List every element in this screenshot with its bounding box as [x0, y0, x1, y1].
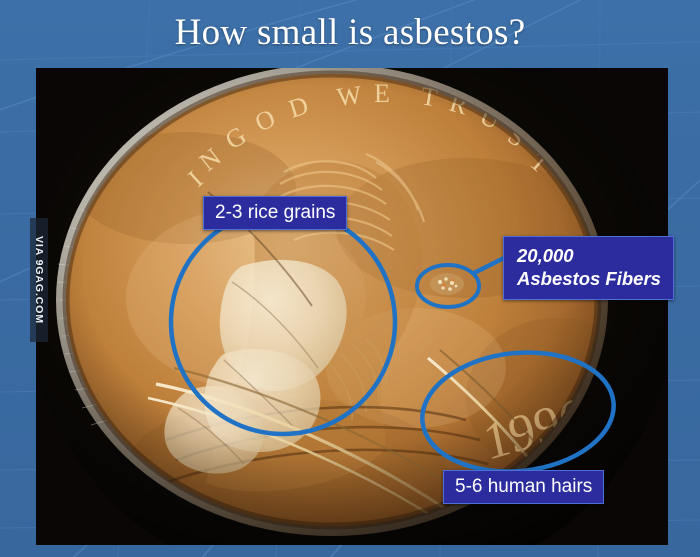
watermark: VIA 9GAG.COM — [30, 218, 48, 342]
image-root: How small is asbestos? — [0, 0, 700, 557]
watermark-text: VIA 9GAG.COM — [33, 236, 45, 324]
label-human-hairs-text: 5-6 human hairs — [455, 476, 592, 497]
label-asbestos-fibers-line2: Asbestos Fibers — [517, 267, 661, 290]
label-asbestos-fibers: 20,000 Asbestos Fibers — [503, 236, 674, 300]
label-rice-grains: 2-3 rice grains — [203, 196, 347, 230]
page-title: How small is asbestos? — [0, 11, 700, 55]
label-asbestos-fibers-line1: 20,000 — [517, 244, 661, 267]
label-human-hairs: 5-6 human hairs — [443, 470, 604, 504]
label-rice-grains-text: 2-3 rice grains — [215, 202, 335, 223]
